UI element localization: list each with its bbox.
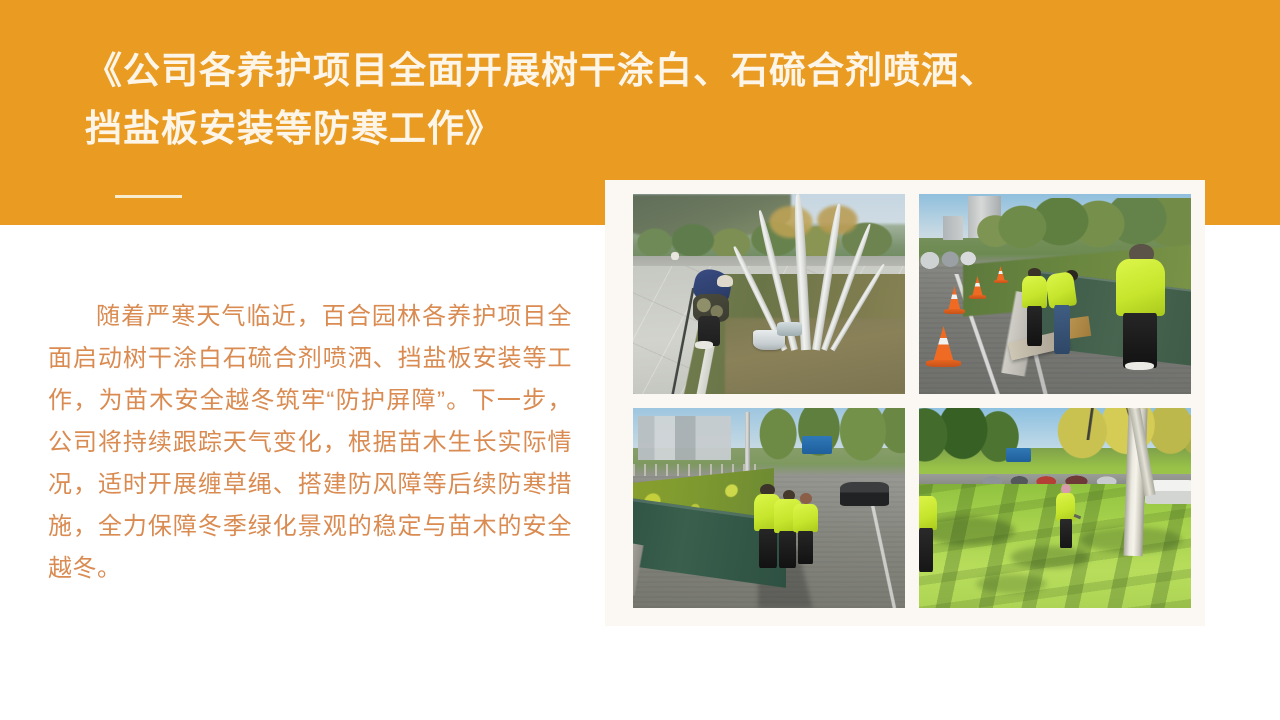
parked-cars (919, 246, 979, 270)
worker-spraying (1055, 484, 1077, 548)
worker-legs (1123, 313, 1157, 368)
photo-median-board-install (633, 408, 905, 608)
distant-pedestrian (671, 252, 679, 260)
worker-hi-vis (793, 492, 817, 564)
worker-legs (1054, 305, 1070, 354)
title-underline-rule (115, 195, 182, 198)
worker-cap (717, 275, 733, 287)
worker-foreground (919, 488, 938, 572)
worker-legs (1027, 306, 1042, 346)
body-copy-block: 随着严寒天气临近，百合园林各养护项目全面启动树干涂白石硫合剂喷洒、挡盐板安装等工… (48, 296, 572, 590)
worker-vest (1045, 272, 1077, 309)
road-sign (802, 436, 832, 454)
worker-vest (1056, 493, 1075, 521)
worker-vest (919, 496, 937, 530)
photo-tree-whitewashing (633, 194, 905, 394)
worker-hi-vis (1115, 244, 1167, 368)
worker-legs (798, 531, 812, 564)
body-paragraph: 随着严寒天气临近，百合园林各养护项目全面启动树干涂白石硫合剂喷洒、挡盐板安装等工… (48, 296, 572, 590)
worker-hi-vis (1047, 270, 1080, 354)
worker-shoe (695, 341, 713, 349)
page-title-line-2: 挡盐板安装等防寒工作》 (85, 100, 1205, 158)
paint-bucket-secondary (777, 322, 801, 336)
worker-painting (690, 270, 736, 346)
road-sign (1006, 448, 1030, 462)
page-title: 《公司各养护项目全面开展树干涂白、石硫合剂喷洒、 挡盐板安装等防寒工作》 (85, 42, 1205, 158)
worker-head (800, 493, 812, 504)
worker-vest (1116, 259, 1166, 316)
traffic-cone (946, 286, 962, 316)
passing-car (840, 482, 889, 506)
traffic-cone (930, 326, 957, 370)
photo-salt-board-install (919, 194, 1191, 394)
worker-vest (1022, 276, 1046, 308)
photo-lawn-spraying (919, 408, 1191, 608)
photo-grid (633, 194, 1191, 608)
page-title-line-1: 《公司各养护项目全面开展树干涂白、石硫合剂喷洒、 (85, 42, 1205, 100)
worker-legs (919, 528, 933, 572)
worker-vest (793, 504, 817, 533)
slide-canvas: 《公司各养护项目全面开展树干涂白、石硫合剂喷洒、 挡盐板安装等防寒工作》 随着严… (0, 0, 1280, 720)
worker-shoe (1125, 362, 1154, 371)
worker-hi-vis (1022, 270, 1046, 346)
traffic-cone (995, 266, 1006, 284)
worker-legs (1060, 519, 1071, 548)
background-buildings (638, 416, 730, 460)
overhanging-branch (1044, 408, 1191, 440)
traffic-cone (971, 276, 985, 300)
